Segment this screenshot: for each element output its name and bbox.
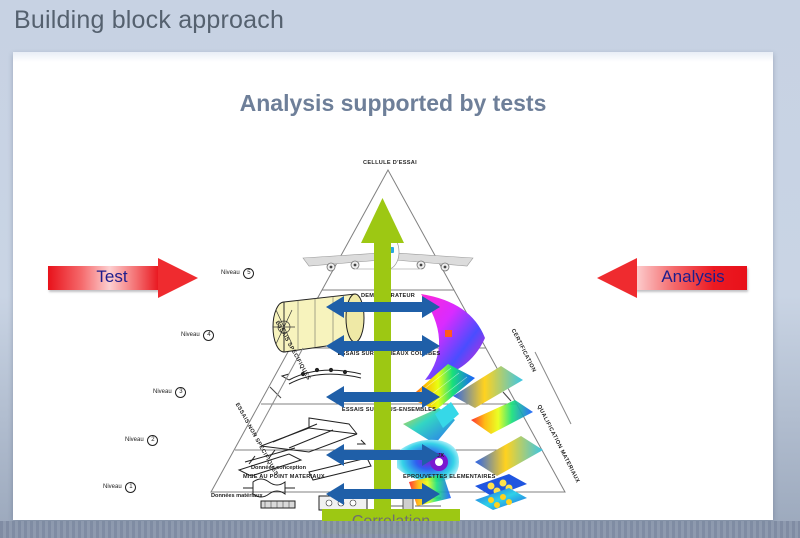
headline: Analysis supported by tests xyxy=(13,90,773,117)
analysis-arrow: Analysis xyxy=(597,258,747,298)
analysis-arrow-label: Analysis xyxy=(637,267,749,287)
bottom-shelf xyxy=(0,521,800,538)
level2-fem-artifact xyxy=(397,436,543,482)
test-arrow: Test xyxy=(48,258,198,298)
level4-fem-artifact xyxy=(409,364,523,410)
level5-test-artifact xyxy=(273,294,364,352)
level2-test-artifact xyxy=(239,448,371,480)
aircraft-icon xyxy=(303,214,473,271)
page-title: Building block approach xyxy=(14,6,284,35)
slide-root: Building block approach Analysis support… xyxy=(0,0,800,538)
level3-fem-artifact xyxy=(403,400,533,444)
test-arrow-label: Test xyxy=(56,267,168,287)
analysis-arrow-head xyxy=(597,258,637,298)
panel-top-sheen xyxy=(13,52,773,62)
pyramid-svg xyxy=(103,152,683,512)
level4-test-artifact xyxy=(282,368,361,384)
building-block-pyramid-diagram: CELLULE D'ESSAI Niveau 5 Niveau 4 Niveau… xyxy=(103,152,683,512)
level3-test-artifact xyxy=(261,418,365,452)
